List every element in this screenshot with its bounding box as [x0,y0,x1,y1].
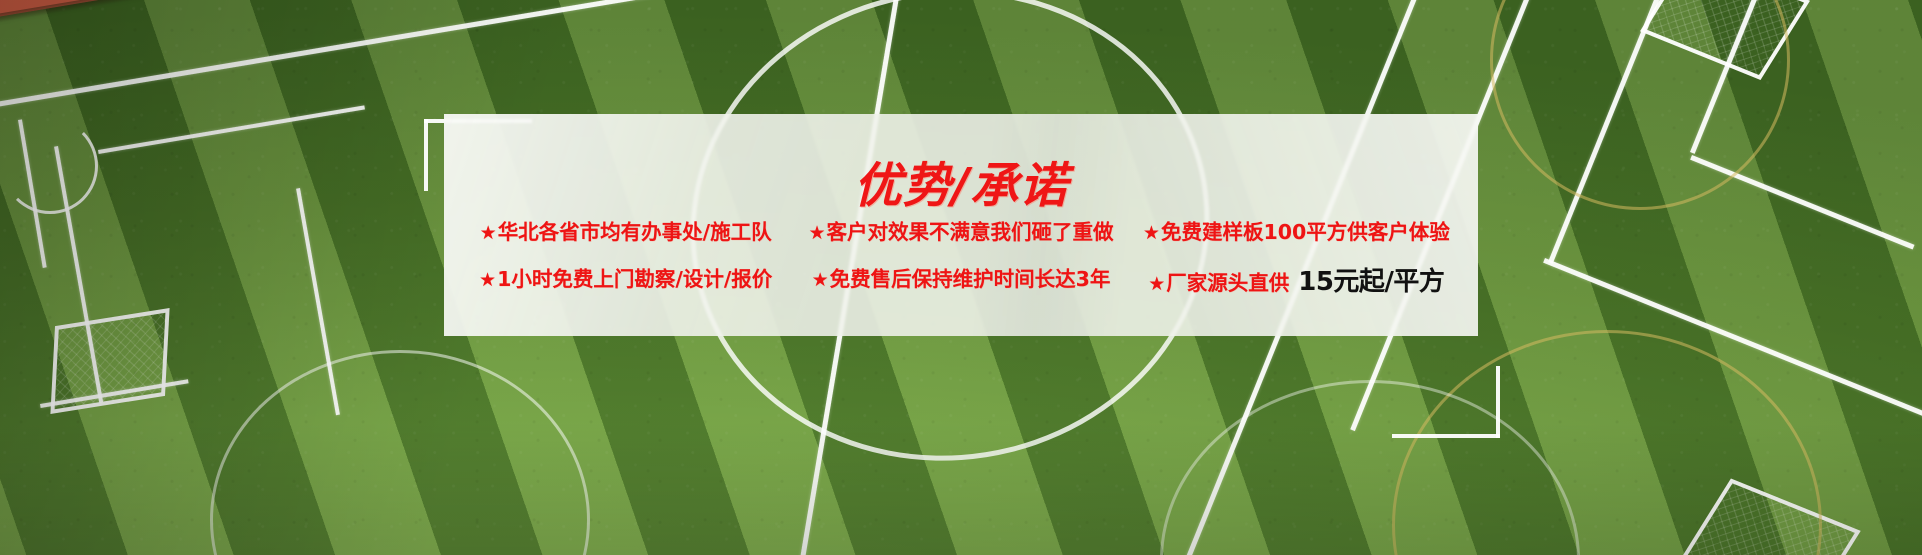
list-item-label: 免费建样板100平方供客户体验 [1161,222,1450,243]
list-item: ★ 华北各省市均有办事处/施工队 [458,222,793,243]
list-item: ★ 免费建样板100平方供客户体验 [1129,222,1464,243]
list-item-label: 1小时免费上门勘察/设计/报价 [497,269,772,290]
benefits-list: ★ 华北各省市均有办事处/施工队 ★ 客户对效果不满意我们砸了重做 ★ 免费建样… [444,222,1478,295]
promo-banner: 优势/承诺 ★ 华北各省市均有办事处/施工队 ★ 客户对效果不满意我们砸了重做 … [0,0,1922,555]
star-icon: ★ [480,224,497,243]
list-item-label: 华北各省市均有办事处/施工队 [498,222,772,243]
star-icon: ★ [1143,224,1160,243]
page-title: 优势/承诺 [444,146,1478,216]
list-item-price: ★ 厂家源头直供 15元起/平方 [1129,269,1464,295]
list-item-label: 客户对效果不满意我们砸了重做 [827,222,1114,243]
star-icon: ★ [808,224,825,243]
star-icon: ★ [1148,275,1165,294]
star-icon: ★ [812,271,829,290]
list-item: ★ 1小时免费上门勘察/设计/报价 [458,269,793,295]
content-panel: 优势/承诺 ★ 华北各省市均有办事处/施工队 ★ 客户对效果不满意我们砸了重做 … [444,114,1478,336]
list-item: ★ 免费售后保持维护时间长达3年 [793,269,1128,295]
list-item: ★ 客户对效果不满意我们砸了重做 [793,222,1128,243]
list-item-label: 厂家源头直供 [1166,273,1289,294]
price-label: 15元起/平方 [1298,269,1444,295]
list-item-label: 免费售后保持维护时间长达3年 [830,269,1111,290]
star-icon: ★ [479,271,496,290]
